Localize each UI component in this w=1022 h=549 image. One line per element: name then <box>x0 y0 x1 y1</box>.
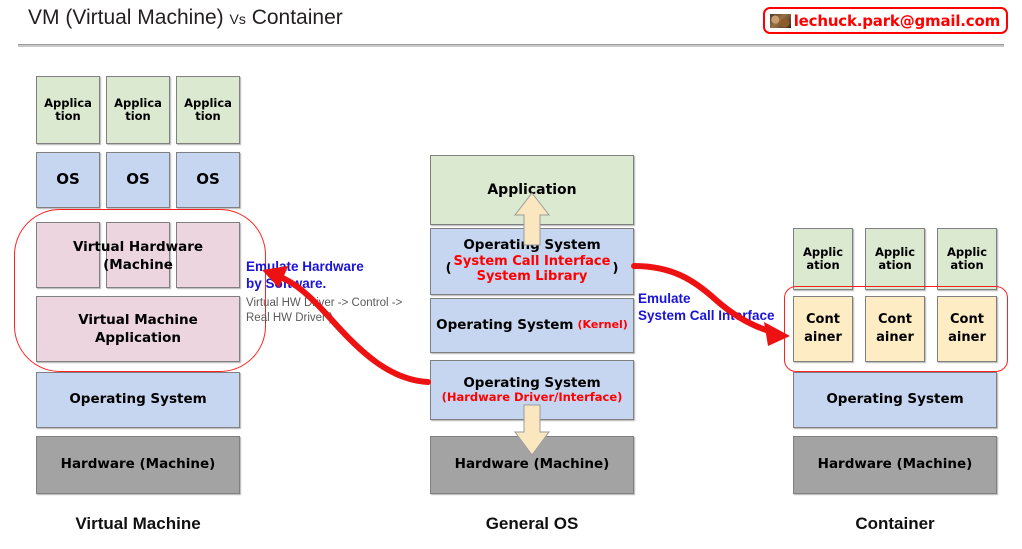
gos-os-syscall-red-text: System Call Interface System Library <box>454 254 611 285</box>
user-photo-icon <box>769 13 792 29</box>
gos-os-syscall-detail: ( System Call Interface System Library ) <box>446 254 619 285</box>
vm-os-box-3: OS <box>176 152 240 208</box>
gos-os-hwdriver-red-text: (Hardware Driver/Interface) <box>442 391 623 404</box>
email-address: lechuck.park@gmail.com <box>794 12 1000 30</box>
title-divider <box>18 44 1004 47</box>
gos-paren-close: ) <box>612 262 618 277</box>
gos-application-box: Application <box>430 155 634 225</box>
vm-operating-system-box: Operating System <box>36 372 240 428</box>
ct-application-box-2: Applic ation <box>865 228 925 290</box>
gos-os-kernel-red-text: (Kernel) <box>578 319 628 332</box>
vm-application-box-3: Applica tion <box>176 76 240 144</box>
gos-os-kernel-title: Operating System <box>436 318 573 334</box>
annotation-emulate-hardware: Emulate Hardware by Software. <box>246 259 421 293</box>
ct-operating-system-box: Operating System <box>793 372 997 428</box>
vm-virtual-hardware-label: Virtual Hardware (Machine <box>36 238 240 274</box>
email-badge[interactable]: lechuck.park@gmail.com <box>763 7 1008 34</box>
ct-container-box-1: Cont ainer <box>793 296 853 362</box>
gos-paren-open: ( <box>446 262 452 277</box>
ct-container-box-2: Cont ainer <box>865 296 925 362</box>
diagram-canvas: VM (Virtual Machine) Vs Container lechuc… <box>0 0 1022 549</box>
page-title-tail: Container <box>246 6 343 29</box>
annotation-emulate-syscall: Emulate System Call Interface <box>638 291 798 325</box>
ct-hardware-box: Hardware (Machine) <box>793 436 997 494</box>
column-label-container: Container <box>793 514 997 534</box>
page-title-vs: Vs <box>230 11 246 27</box>
vm-hardware-box: Hardware (Machine) <box>36 436 240 494</box>
gos-os-hwdriver-box: Operating System (Hardware Driver/Interf… <box>430 360 634 420</box>
ct-application-box-3: Applic ation <box>937 228 997 290</box>
vm-os-box-1: OS <box>36 152 100 208</box>
gos-os-hwdriver-title: Operating System <box>463 376 600 392</box>
ct-application-box-1: Applic ation <box>793 228 853 290</box>
annotation-emulate-hardware-sub: Virtual HW Driver -> Control -> Real HW … <box>246 296 426 326</box>
page-title-main: VM (Virtual Machine) <box>28 6 230 29</box>
gos-os-syscall-box: Operating System ( System Call Interface… <box>430 228 634 295</box>
vm-application-box-2: Applica tion <box>106 76 170 144</box>
ct-container-box-3: Cont ainer <box>937 296 997 362</box>
gos-os-kernel-box: Operating System (Kernel) <box>430 298 634 353</box>
vm-application-box-1: Applica tion <box>36 76 100 144</box>
column-label-general-os: General OS <box>430 514 634 534</box>
page-title: VM (Virtual Machine) Vs Container <box>28 6 343 30</box>
vm-virtual-machine-application-box: Virtual Machine Application <box>36 296 240 362</box>
gos-hardware-box: Hardware (Machine) <box>430 436 634 494</box>
gos-os-syscall-title: Operating System <box>463 238 600 254</box>
column-label-virtual-machine: Virtual Machine <box>36 514 240 534</box>
vm-os-box-2: OS <box>106 152 170 208</box>
